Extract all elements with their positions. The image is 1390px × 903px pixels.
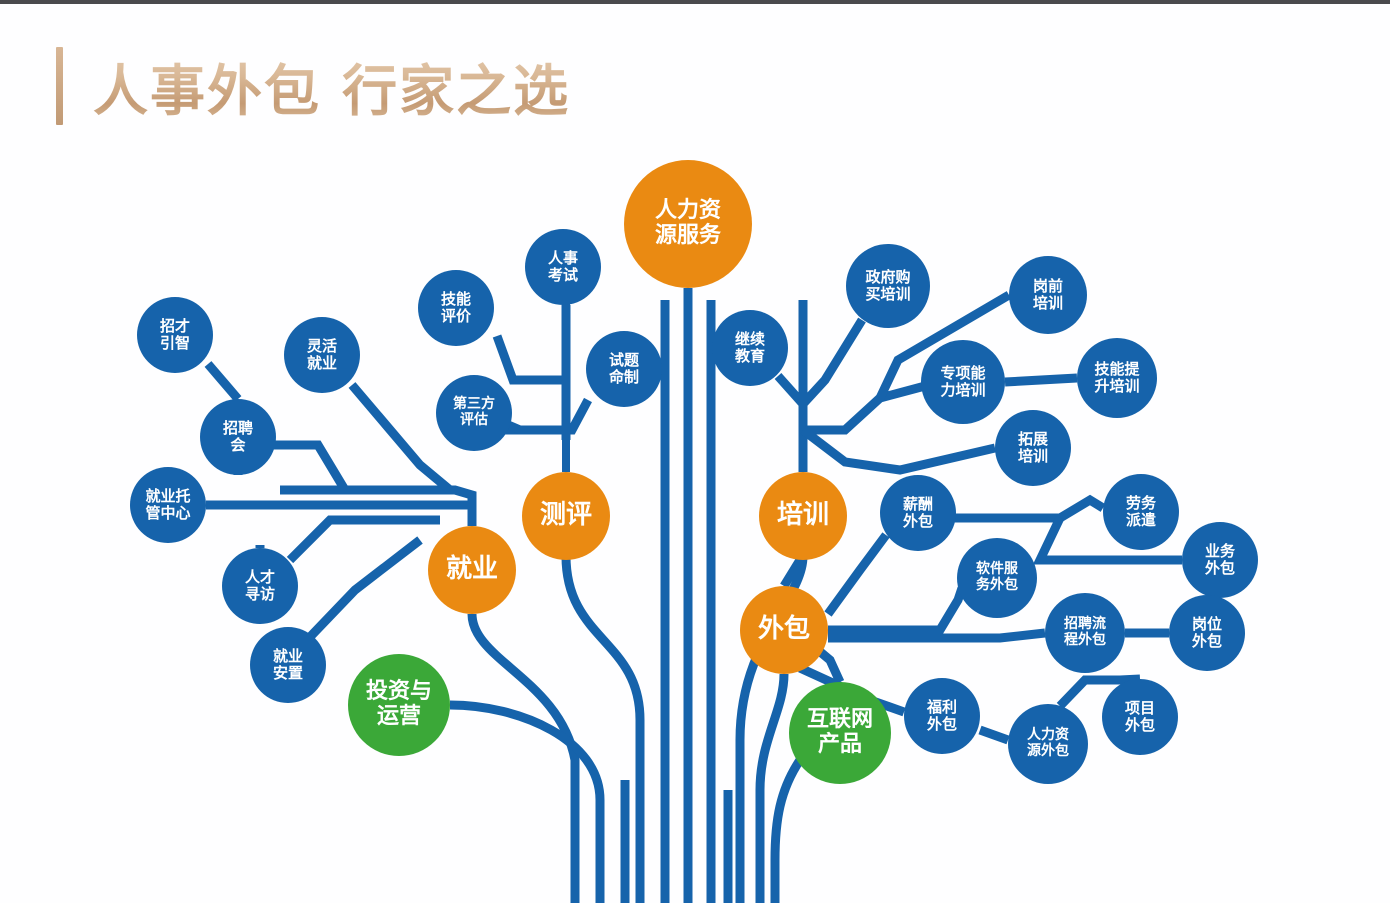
title-accent-rule (56, 47, 63, 125)
tree-nodes: 人力资源服务测评就业培训外包投资与运营互联网产品招才引智灵活就业招聘会就业托管中… (0, 0, 1390, 903)
tree-node-jy[interactable]: 就业 (428, 526, 516, 614)
tree-node-flwb[interactable]: 福利外包 (904, 678, 980, 754)
tree-node-label: 薪酬外包 (900, 496, 936, 530)
tree-node-label: 福利外包 (924, 699, 960, 733)
tree-node-wb[interactable]: 外包 (740, 586, 828, 674)
tree-node-label: 测评 (537, 501, 595, 530)
tree-node-lhjy[interactable]: 灵活就业 (284, 317, 360, 393)
tree-node-label: 人事考试 (545, 250, 581, 284)
tree-node-xcwb[interactable]: 薪酬外包 (880, 475, 956, 551)
tree-node-zxnlpx[interactable]: 专项能力培训 (921, 340, 1005, 424)
tree-node-lwpq[interactable]: 劳务派遣 (1103, 474, 1179, 550)
tree-node-jnpj[interactable]: 技能评价 (418, 270, 494, 346)
tree-node-label: 试题命制 (606, 352, 642, 386)
tree-node-jyaz[interactable]: 就业安置 (250, 627, 326, 703)
title-text: 人事外包 行家之选 (93, 46, 570, 126)
tree-node-label: 人才寻访 (242, 569, 278, 603)
tree-node-tzpx[interactable]: 拓展培训 (995, 410, 1071, 486)
tree-node-zph[interactable]: 招聘会 (200, 399, 276, 475)
tree-node-gwwb[interactable]: 岗位外包 (1169, 595, 1245, 671)
slide-canvas: 人事外包 行家之选 (0, 0, 1390, 903)
tree-node-jytgzx[interactable]: 就业托管中心 (130, 467, 206, 543)
tree-node-label: 岗位外包 (1189, 616, 1225, 650)
tree-node-label: 培训 (774, 501, 832, 530)
tree-node-label: 就业托管中心 (142, 488, 193, 522)
tree-node-zfgmpx[interactable]: 政府购买培训 (846, 244, 930, 328)
tree-node-ywwb[interactable]: 业务外包 (1182, 522, 1258, 598)
tree-node-label: 技能评价 (438, 291, 474, 325)
tree-node-hlwcp[interactable]: 互联网产品 (789, 682, 891, 784)
tree-node-label: 政府购买培训 (862, 269, 913, 303)
tree-node-rcxf[interactable]: 人才寻访 (222, 548, 298, 624)
tree-node-rjfwwb[interactable]: 软件服务外包 (957, 538, 1037, 618)
tree-node-stmz[interactable]: 试题命制 (586, 331, 662, 407)
tree-node-label: 继续教育 (732, 331, 768, 365)
tree-node-cp[interactable]: 测评 (522, 472, 610, 560)
tree-node-label: 第三方评估 (450, 397, 498, 428)
tree-node-jntspx[interactable]: 技能提升培训 (1077, 338, 1157, 418)
tree-node-label: 业务外包 (1202, 543, 1238, 577)
tree-node-zcyz[interactable]: 招才引智 (137, 297, 213, 373)
tree-node-px[interactable]: 培训 (759, 472, 847, 560)
tree-node-label: 项目外包 (1122, 700, 1158, 734)
tree-node-label: 专项能力培训 (937, 365, 988, 399)
tree-node-root[interactable]: 人力资源服务 (624, 160, 752, 288)
tree-node-label: 互联网产品 (804, 708, 876, 757)
tree-node-zplcwb[interactable]: 招聘流程外包 (1045, 593, 1125, 673)
tree-node-label: 招聘会 (220, 420, 256, 454)
tree-node-dsfpg[interactable]: 第三方评估 (436, 375, 512, 451)
tree-node-label: 灵活就业 (304, 338, 340, 372)
tree-node-label: 技能提升培训 (1091, 361, 1142, 395)
page-title: 人事外包 行家之选 (56, 46, 570, 126)
tree-node-label: 人力资源服务 (652, 199, 724, 248)
tree-node-label: 劳务派遣 (1123, 495, 1159, 529)
tree-node-label: 就业安置 (270, 648, 306, 682)
tree-node-gqpx[interactable]: 岗前培训 (1009, 256, 1087, 334)
tree-node-label: 岗前培训 (1030, 278, 1066, 312)
top-edge-bar (0, 0, 1390, 4)
tree-node-label: 招才引智 (157, 318, 193, 352)
tree-node-label: 招聘流程外包 (1061, 617, 1109, 648)
tree-node-label: 就业 (443, 555, 501, 584)
tree-node-label: 拓展培训 (1015, 431, 1051, 465)
tree-node-label: 外包 (755, 615, 813, 644)
tree-node-tzyy[interactable]: 投资与运营 (348, 654, 450, 756)
tree-node-rlzywb[interactable]: 人力资源外包 (1008, 704, 1088, 784)
tree-node-label: 人力资源外包 (1024, 728, 1072, 759)
tree-node-jxjy[interactable]: 继续教育 (712, 310, 788, 386)
tree-node-label: 软件服务外包 (973, 562, 1021, 593)
tree-node-label: 投资与运营 (363, 680, 435, 729)
tree-node-rskss[interactable]: 人事考试 (525, 229, 601, 305)
tree-node-xmwb[interactable]: 项目外包 (1102, 679, 1178, 755)
